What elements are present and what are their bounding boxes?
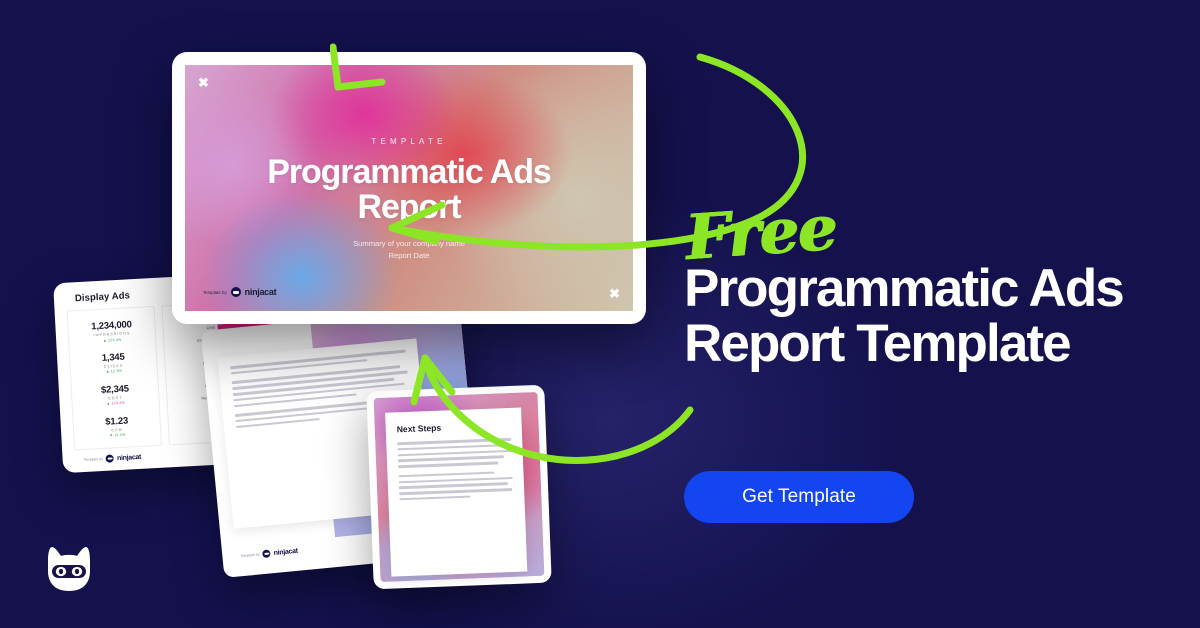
ninja-cat-logo-icon: [262, 549, 271, 558]
page-title: Programmatic Ads Report Template: [684, 262, 1154, 371]
kpi-delta: ▲ 12.3%: [103, 370, 126, 375]
slide-subtitle: Summary of your company name Report Date: [185, 238, 633, 262]
get-template-button[interactable]: Get Template: [684, 471, 914, 523]
promo-banner: Display Ads 1,234,000 IMPRESSIONS ▲ 123.…: [0, 0, 1200, 628]
kpi-cost: $2,345 COST ▲ 123.4%: [101, 384, 130, 406]
next-steps-title: Next Steps: [397, 420, 511, 434]
kpi-clicks: 1,345 CLICKS ▲ 12.3%: [102, 353, 126, 375]
slide-title: Programmatic Ads Report: [259, 155, 559, 225]
slide-text-block: TEMPLATE Programmatic Ads Report Summary…: [185, 137, 633, 262]
footer-prefix: Template by: [84, 457, 104, 462]
slide-eyebrow: TEMPLATE: [185, 137, 633, 146]
kpi-value: 1,345: [102, 353, 125, 364]
ninja-cat-logo-icon: [106, 454, 114, 462]
footer-brand: ninjacat: [117, 453, 141, 461]
slide-subtitle-line-1: Summary of your company name: [185, 238, 633, 250]
footer-prefix: Template by: [240, 552, 260, 558]
main-slide-card[interactable]: ✖ ✖ TEMPLATE Programmatic Ads Report Sum…: [172, 52, 646, 324]
kpi-value: $2,345: [101, 384, 129, 395]
paragraph: [397, 438, 512, 468]
kpi-value: $1.23: [105, 416, 128, 427]
footer-brand: ninjacat: [245, 287, 277, 297]
ninja-cat-logo-icon: [231, 287, 241, 297]
close-icon[interactable]: ✖: [198, 76, 209, 89]
slide-subtitle-line-2: Report Date: [185, 250, 633, 262]
middle-doc-footer: Template by ninjacat: [240, 547, 298, 560]
kpi-delta: ▲ 123.4%: [92, 338, 133, 344]
kpi-cpm: $1.23 CPM ▼ 12.3%: [105, 416, 129, 438]
close-icon[interactable]: ✖: [609, 287, 620, 300]
slide-canvas: ✖ ✖ TEMPLATE Programmatic Ads Report Sum…: [185, 65, 633, 311]
paragraph: [398, 471, 513, 501]
kpi-impressions: 1,234,000 IMPRESSIONS ▲ 123.4%: [91, 321, 133, 344]
next-steps-page: Next Steps: [385, 408, 527, 577]
kpi-delta: ▲ 123.4%: [102, 402, 130, 407]
next-steps-slide-card[interactable]: Next Steps: [366, 385, 551, 590]
footer-prefix: Template by: [203, 290, 227, 295]
footer-brand: ninjacat: [273, 547, 298, 556]
kpi-delta: ▼ 12.3%: [106, 433, 129, 438]
ninja-cat-logo-icon: [44, 545, 94, 593]
slide-footer: Template by ninjacat: [203, 287, 276, 297]
kpi-panel: 1,234,000 IMPRESSIONS ▲ 123.4% 1,345 CLI…: [67, 306, 162, 451]
